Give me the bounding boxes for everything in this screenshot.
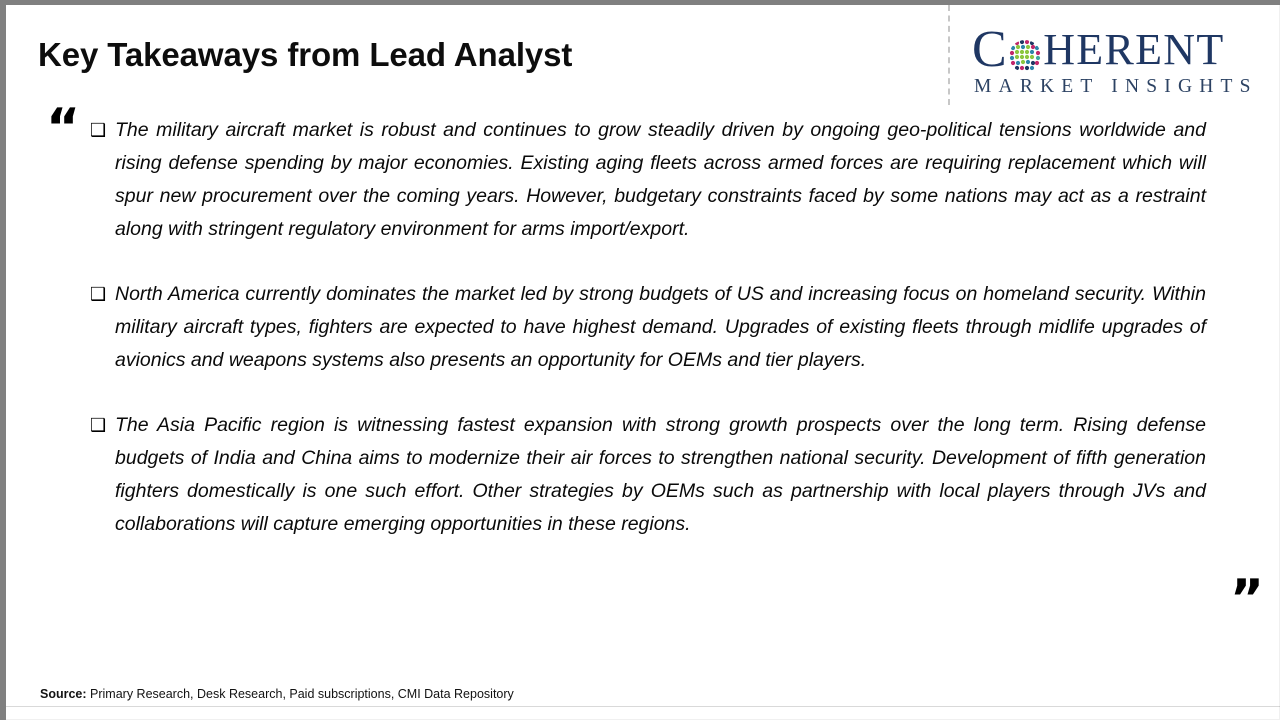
slide-header: Key Takeaways from Lead Analyst C: [6, 5, 1280, 106]
list-item-text: North America currently dominates the ma…: [115, 278, 1206, 377]
source-note: Source: Primary Research, Desk Research,…: [40, 687, 514, 701]
list-item-text: The Asia Pacific region is witnessing fa…: [115, 409, 1206, 541]
slide-canvas: Key Takeaways from Lead Analyst C: [0, 0, 1280, 720]
source-label: Source:: [40, 687, 87, 701]
slide-footer: Source: Primary Research, Desk Research,…: [6, 672, 1280, 720]
square-bullet-icon: ❑: [90, 114, 110, 147]
page-title: Key Takeaways from Lead Analyst: [38, 36, 572, 74]
footer-divider: [6, 706, 1280, 707]
list-item-text: The military aircraft market is robust a…: [115, 114, 1206, 246]
dotted-globe-icon: [1008, 35, 1042, 69]
takeaways-list: ❑ The military aircraft market is robust…: [90, 114, 1206, 541]
list-item: ❑ North America currently dominates the …: [90, 278, 1206, 377]
closing-quote-icon: ”: [1230, 579, 1262, 619]
square-bullet-icon: ❑: [90, 278, 110, 311]
coherent-market-insights-logo: C: [972, 27, 1268, 103]
header-dashed-divider: [948, 5, 950, 105]
opening-quote-icon: “: [46, 108, 78, 148]
slide-body: “ ❑ The military aircraft market is robu…: [6, 106, 1280, 676]
list-item: ❑ The military aircraft market is robust…: [90, 114, 1206, 246]
logo-letters-herent: HERENT: [1043, 27, 1224, 73]
logo-letter-c: C: [972, 27, 1007, 73]
square-bullet-icon: ❑: [90, 409, 110, 442]
source-value: Primary Research, Desk Research, Paid su…: [87, 687, 514, 701]
logo-wordmark: C: [972, 27, 1268, 73]
list-item: ❑ The Asia Pacific region is witnessing …: [90, 409, 1206, 541]
logo-tagline: MARKET INSIGHTS: [972, 76, 1268, 98]
